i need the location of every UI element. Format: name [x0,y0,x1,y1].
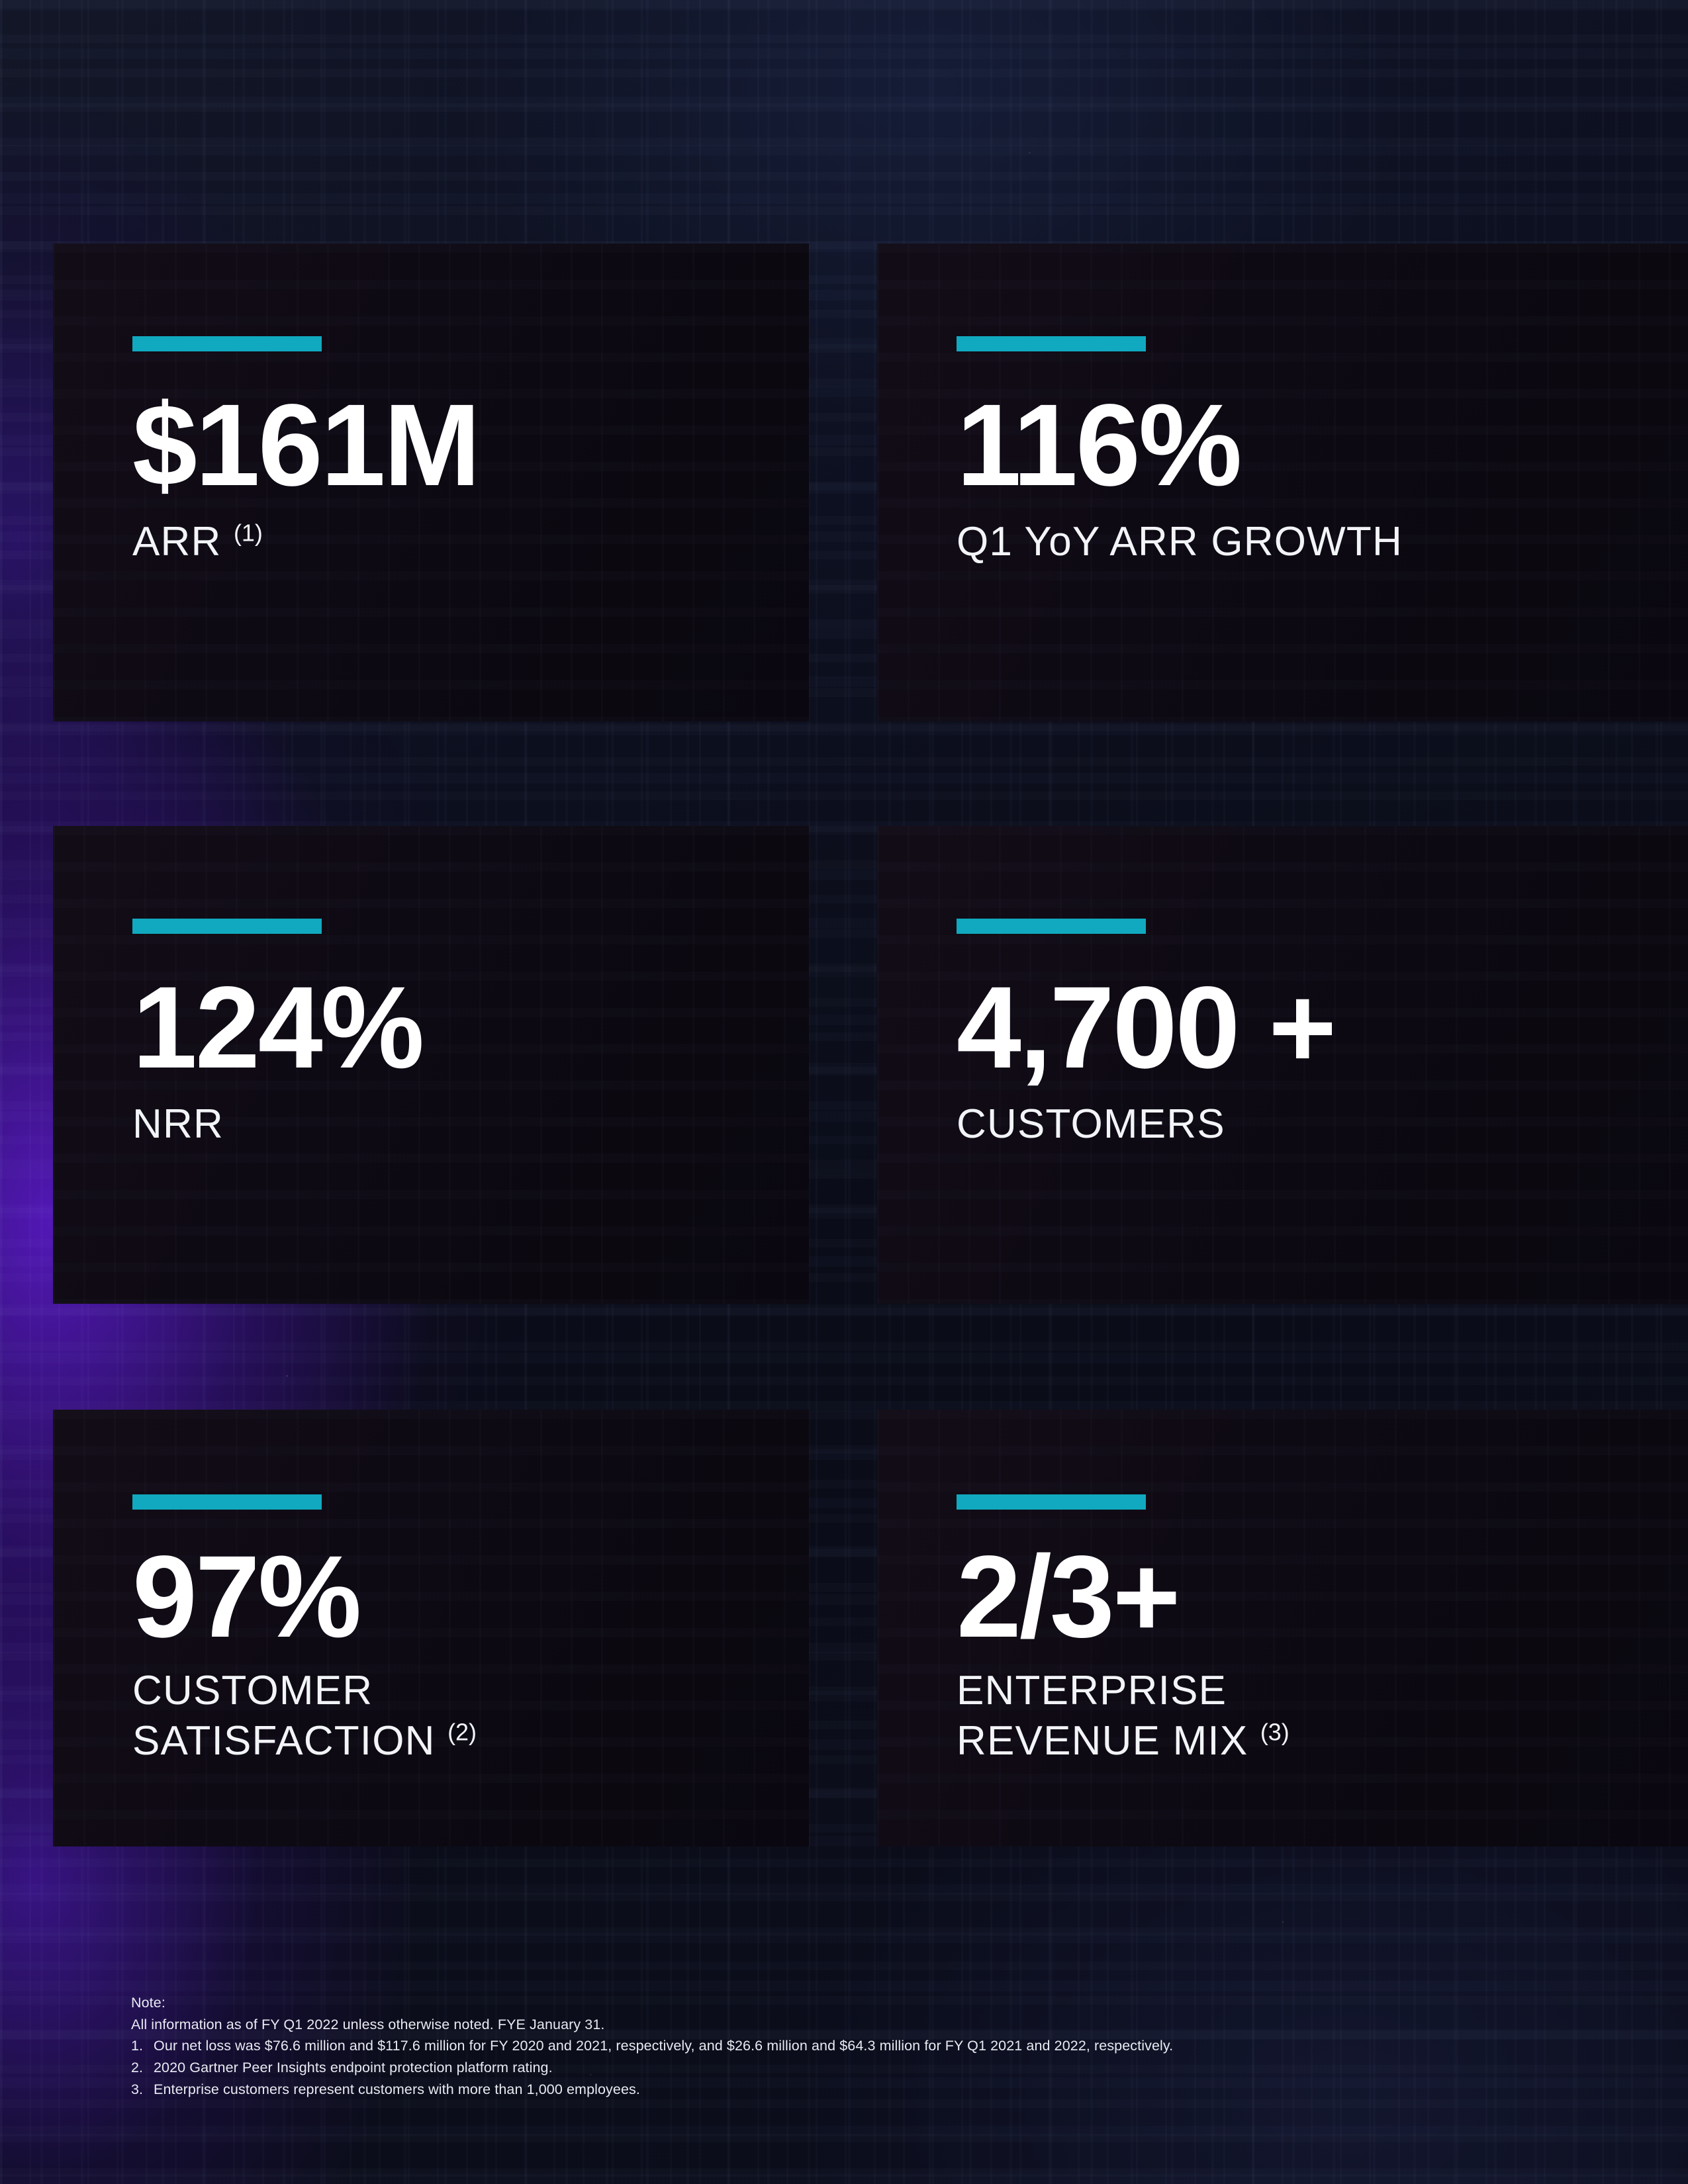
grid-gap-row [53,721,809,826]
grid-gap-row [877,721,1688,826]
stat-label-text: NRR [132,1101,224,1147]
stat-card-arr: $161M ARR (1) [53,244,809,721]
accent-bar-icon [132,919,322,934]
footnotes: Note: All information as of FY Q1 2022 u… [131,1992,1521,2100]
stat-value: 116% [957,392,1688,500]
stat-label: CUSTOMER SATISFACTION (2) [132,1666,809,1766]
stat-label-text: Q1 YoY ARR GROWTH [957,519,1403,565]
stat-value: 2/3+ [957,1544,1688,1651]
grid-gap-cell [809,721,877,826]
stat-label-text: CUSTOMER SATISFACTION [132,1668,447,1764]
stat-label: ARR (1) [132,517,809,567]
footnote-subheading: All information as of FY Q1 2022 unless … [131,2014,1521,2036]
footnote-number: 3. [131,2079,154,2101]
accent-bar-icon [132,336,322,351]
stat-value: 124% [132,975,809,1082]
stat-label: ENTERPRISE REVENUE MIX (3) [957,1666,1688,1766]
grid-gap-column [809,244,877,721]
footnote-text: Our net loss was $76.6 million and $117.… [154,2038,1173,2054]
stat-label-superscript: (3) [1260,1718,1289,1745]
stat-label: CUSTOMERS [957,1099,1688,1150]
footnote-text: 2020 Gartner Peer Insights endpoint prot… [154,2060,553,2075]
stat-value: 97% [132,1544,809,1651]
accent-bar-icon [132,1494,322,1510]
stat-card-enterprise-revenue-mix: 2/3+ ENTERPRISE REVENUE MIX (3) [877,1410,1688,1846]
grid-gap-row [53,1304,809,1410]
footnote-heading: Note: [131,1992,1521,2014]
grid-gap-column [809,1410,877,1846]
stat-label-text: CUSTOMERS [957,1101,1225,1147]
grid-gap-row [877,1304,1688,1410]
stat-label: Q1 YoY ARR GROWTH [957,517,1688,567]
stat-label-text: ENTERPRISE REVENUE MIX [957,1668,1260,1764]
footnote-number: 1. [131,2035,154,2057]
accent-bar-icon [957,1494,1146,1510]
footnote-item: 1.Our net loss was $76.6 million and $11… [131,2035,1521,2057]
stat-value: $161M [132,392,809,500]
accent-bar-icon [957,336,1146,351]
stat-card-nrr: 124% NRR [53,826,809,1304]
stat-label-superscript: (2) [447,1718,477,1745]
stat-value: 4,700 + [957,975,1688,1082]
grid-gap-column [809,826,877,1304]
stats-grid: $161M ARR (1) 116% Q1 YoY ARR GROWTH 124… [53,244,1688,1846]
stat-label-text: ARR [132,519,234,565]
footnote-number: 2. [131,2057,154,2079]
footnote-item: 2.2020 Gartner Peer Insights endpoint pr… [131,2057,1521,2079]
stat-card-customers: 4,700 + CUSTOMERS [877,826,1688,1304]
footnote-text: Enterprise customers represent customers… [154,2081,640,2097]
footnote-item: 3.Enterprise customers represent custome… [131,2079,1521,2101]
stat-card-customer-satisfaction: 97% CUSTOMER SATISFACTION (2) [53,1410,809,1846]
stat-card-arr-growth: 116% Q1 YoY ARR GROWTH [877,244,1688,721]
metrics-slide: $161M ARR (1) 116% Q1 YoY ARR GROWTH 124… [0,0,1688,2184]
grid-gap-cell [809,1304,877,1410]
accent-bar-icon [957,919,1146,934]
stat-label-superscript: (1) [234,519,263,546]
stat-label: NRR [132,1099,809,1150]
